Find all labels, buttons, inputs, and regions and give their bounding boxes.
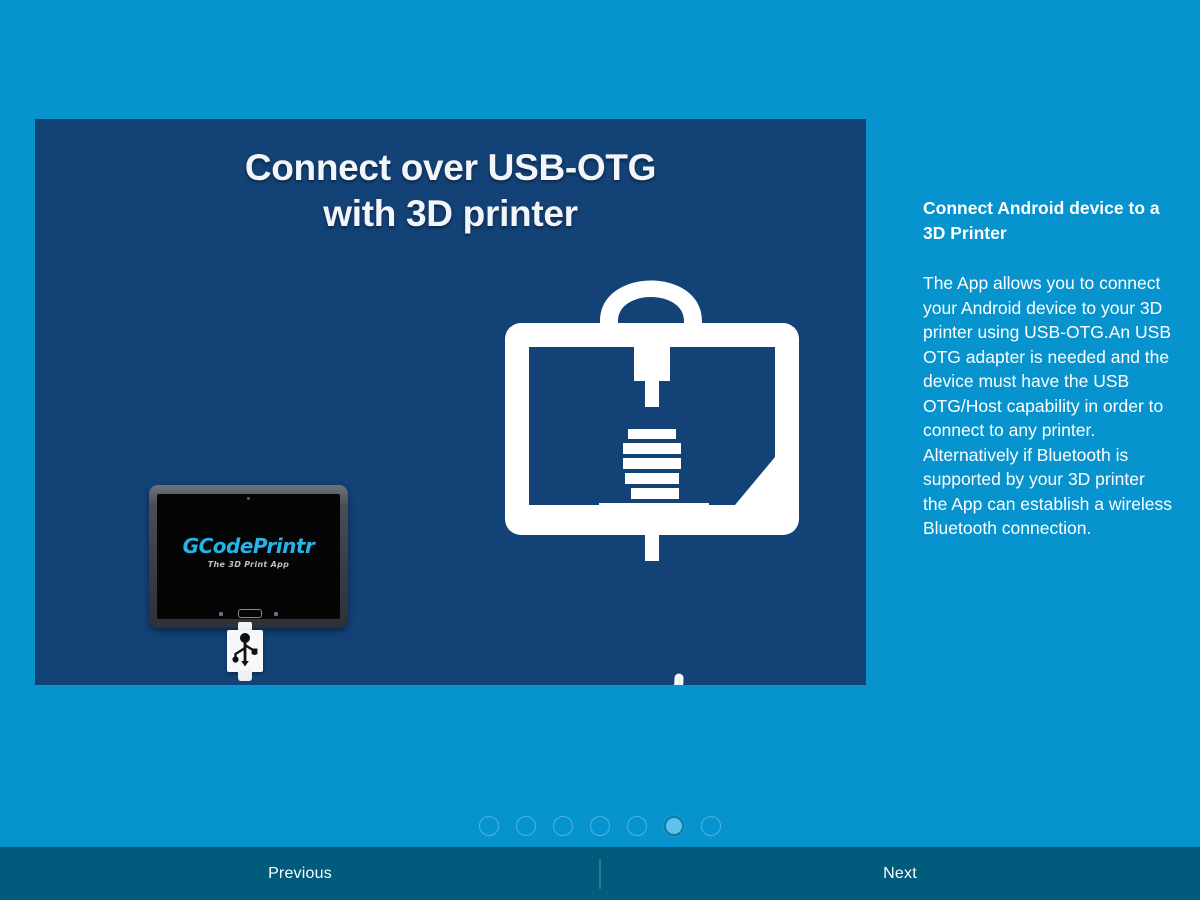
pager-dot-4[interactable]	[590, 816, 610, 836]
usb-adapter-body	[227, 630, 263, 672]
slide-image-title: Connect over USB-OTG with 3D printer	[35, 145, 866, 237]
usb-trident-icon	[227, 630, 263, 672]
tablet-camera-icon	[247, 497, 250, 500]
bottom-navigation-bar: Previous Next	[0, 847, 1200, 900]
slide-illustration-panel: Connect over USB-OTG with 3D printer	[35, 119, 866, 685]
next-button[interactable]: Next	[600, 847, 1200, 900]
pager-dots[interactable]	[0, 815, 1200, 837]
description-heading: Connect Android device to a 3D Printer	[923, 196, 1173, 245]
pager-dot-7[interactable]	[701, 816, 721, 836]
app-logo: GCodePrintr The 3D Print App	[157, 535, 340, 570]
pager-dot-2[interactable]	[516, 816, 536, 836]
pager-dot-1[interactable]	[479, 816, 499, 836]
pager-dot-6[interactable]	[664, 816, 684, 836]
description-body: The App allows you to connect your Andro…	[923, 271, 1173, 541]
app-logo-name: GCodePrintr	[157, 535, 340, 557]
usb-plug-bottom	[238, 670, 252, 681]
app-logo-tagline: The 3D Print App	[157, 560, 340, 570]
description-panel: Connect Android device to a 3D Printer T…	[923, 196, 1173, 541]
printer-illustration	[497, 249, 827, 589]
tablet-nav-dot-left-icon	[219, 612, 223, 616]
tablet-home-button-icon	[238, 609, 262, 618]
pager-dot-3[interactable]	[553, 816, 573, 836]
previous-button[interactable]: Previous	[0, 847, 600, 900]
tablet-nav-dot-right-icon	[274, 612, 278, 616]
tablet-screen: GCodePrintr The 3D Print App	[157, 494, 340, 619]
printer-icon	[497, 249, 827, 589]
bottom-bar-divider	[599, 859, 601, 889]
tablet-device-illustration: GCodePrintr The 3D Print App	[149, 485, 348, 628]
pager-dot-5[interactable]	[627, 816, 647, 836]
usb-otg-adapter-illustration	[227, 622, 263, 684]
